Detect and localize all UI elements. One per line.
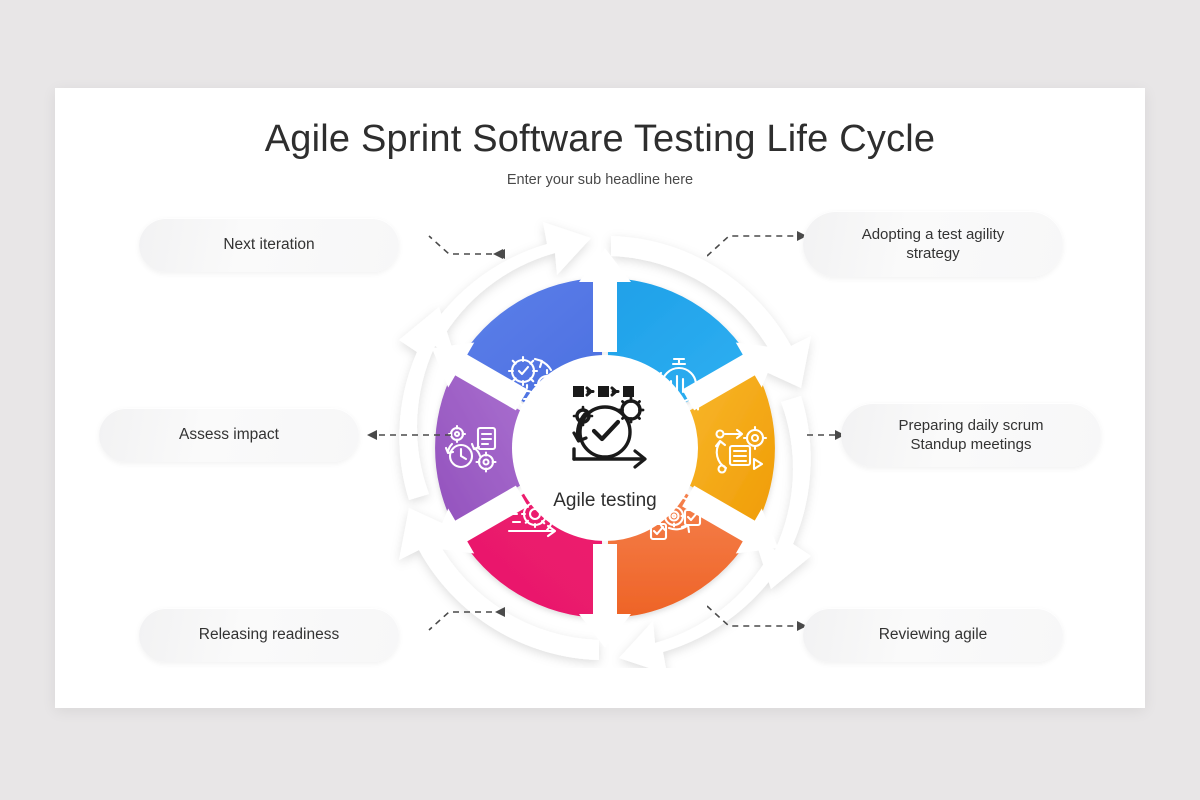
label-preparing-scrum-text: Preparing daily scrum Standup meetings	[898, 416, 1043, 455]
label-adopting-strategy[interactable]: Adopting a test agility strategy	[803, 211, 1063, 277]
label-assess-impact[interactable]: Assess impact	[99, 408, 359, 462]
label-adopting-strategy-line2: strategy	[906, 245, 959, 262]
label-adopting-strategy-line1: Adopting a test agility	[862, 226, 1005, 243]
page-title: Agile Sprint Software Testing Life Cycle	[55, 118, 1145, 161]
label-assess-impact-text: Assess impact	[179, 425, 279, 445]
label-reviewing-agile[interactable]: Reviewing agile	[803, 608, 1063, 662]
label-releasing-readiness-text: Releasing readiness	[199, 625, 339, 645]
label-adopting-strategy-text: Adopting a test agility strategy	[862, 225, 1005, 264]
cycle-wheel-svg	[385, 198, 825, 668]
label-releasing-readiness[interactable]: Releasing readiness	[139, 608, 399, 662]
label-next-iteration[interactable]: Next iteration	[139, 218, 399, 272]
label-preparing-scrum[interactable]: Preparing daily scrum Standup meetings	[841, 403, 1101, 467]
label-next-iteration-text: Next iteration	[223, 235, 314, 255]
label-preparing-scrum-line2: Standup meetings	[911, 436, 1032, 453]
label-preparing-scrum-line1: Preparing daily scrum	[898, 417, 1043, 434]
slide-card: Agile Sprint Software Testing Life Cycle…	[55, 88, 1145, 708]
page-subtitle: Enter your sub headline here	[55, 172, 1145, 188]
cycle-diagram: Agile testing	[385, 198, 825, 668]
label-reviewing-agile-text: Reviewing agile	[879, 625, 988, 645]
center-label: Agile testing	[385, 490, 825, 512]
